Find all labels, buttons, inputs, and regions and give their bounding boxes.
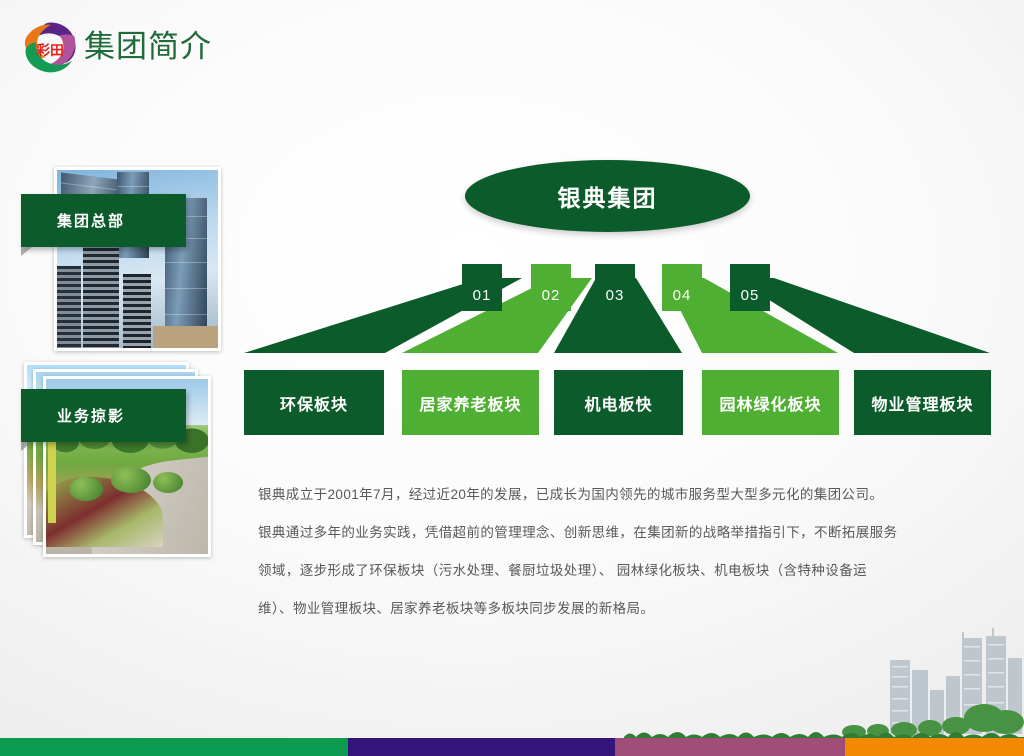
org-root-node[interactable]: 银典集团: [465, 160, 750, 232]
org-number-01: 01: [473, 287, 492, 304]
org-number-04: 04: [673, 287, 692, 304]
org-block-03[interactable]: 机电板快: [554, 370, 683, 435]
org-number-tab-03[interactable]: 03: [595, 264, 635, 311]
page-title: 集团简介: [84, 25, 212, 69]
card-headquarters-label: 集团总部: [21, 210, 125, 231]
svg-text:彩田: 彩田: [35, 42, 64, 59]
card-business-gallery[interactable]: 业务掠影: [24, 362, 224, 557]
org-block-label-03: 机电板快: [584, 391, 652, 415]
org-block-label-04: 园林绿化板块: [719, 391, 821, 415]
slide-header: 彩田 集团简介: [0, 0, 1024, 88]
card-headquarters[interactable]: 集团总部: [54, 167, 221, 351]
org-block-label-05: 物业管理板块: [871, 391, 973, 415]
card-business-banner: 业务掠影: [21, 389, 186, 442]
org-number-tab-05[interactable]: 05: [730, 264, 770, 311]
org-number-03: 03: [606, 287, 625, 304]
caitian-swirl-logo: 彩田: [21, 19, 79, 77]
org-block-label-02: 居家养老板块: [419, 391, 521, 415]
org-block-04[interactable]: 园林绿化板块: [702, 370, 839, 435]
city-skyline-graphic: [834, 618, 1024, 738]
org-chart: 银典集团 01 02 03 04 05 环保板块 居家养老板块 机电板快 园林绿…: [230, 160, 1020, 450]
slide-root: 彩田 集团简介 集团总部: [0, 0, 1024, 756]
org-number-tab-01[interactable]: 01: [462, 264, 502, 311]
org-block-label-01: 环保板块: [280, 391, 348, 415]
org-block-02[interactable]: 居家养老板块: [402, 370, 539, 435]
footer-bar-green: [0, 738, 348, 756]
card-business-label: 业务掠影: [21, 405, 125, 426]
footer-bar-mauve: [615, 738, 845, 756]
org-block-05[interactable]: 物业管理板块: [854, 370, 991, 435]
footer-bar-orange: [845, 738, 1024, 756]
org-number-tab-02[interactable]: 02: [531, 264, 571, 311]
org-number-02: 02: [542, 287, 561, 304]
org-block-01[interactable]: 环保板块: [244, 370, 384, 435]
footer-color-bar: [0, 738, 1024, 756]
footer-bar-purple: [348, 738, 615, 756]
card-headquarters-banner: 集团总部: [21, 194, 186, 247]
org-number-05: 05: [741, 287, 760, 304]
body-paragraph-3: 领域，逐步形成了环保板块（污水处理、餐厨垃圾处理）、 园林绿化板块、机电板块（含…: [258, 552, 980, 590]
org-number-tab-04[interactable]: 04: [662, 264, 702, 311]
org-root-label: 银典集团: [558, 179, 658, 213]
body-paragraph-1: 银典成立于2001年7月，经过近20年的发展，已成长为国内领先的城市服务型大型多…: [258, 476, 980, 514]
body-paragraph-2: 银典通过多年的业务实践，凭借超前的管理理念、创新思维，在集团新的战略举措指引下，…: [258, 514, 980, 552]
body-copy: 银典成立于2001年7月，经过近20年的发展，已成长为国内领先的城市服务型大型多…: [258, 476, 980, 628]
